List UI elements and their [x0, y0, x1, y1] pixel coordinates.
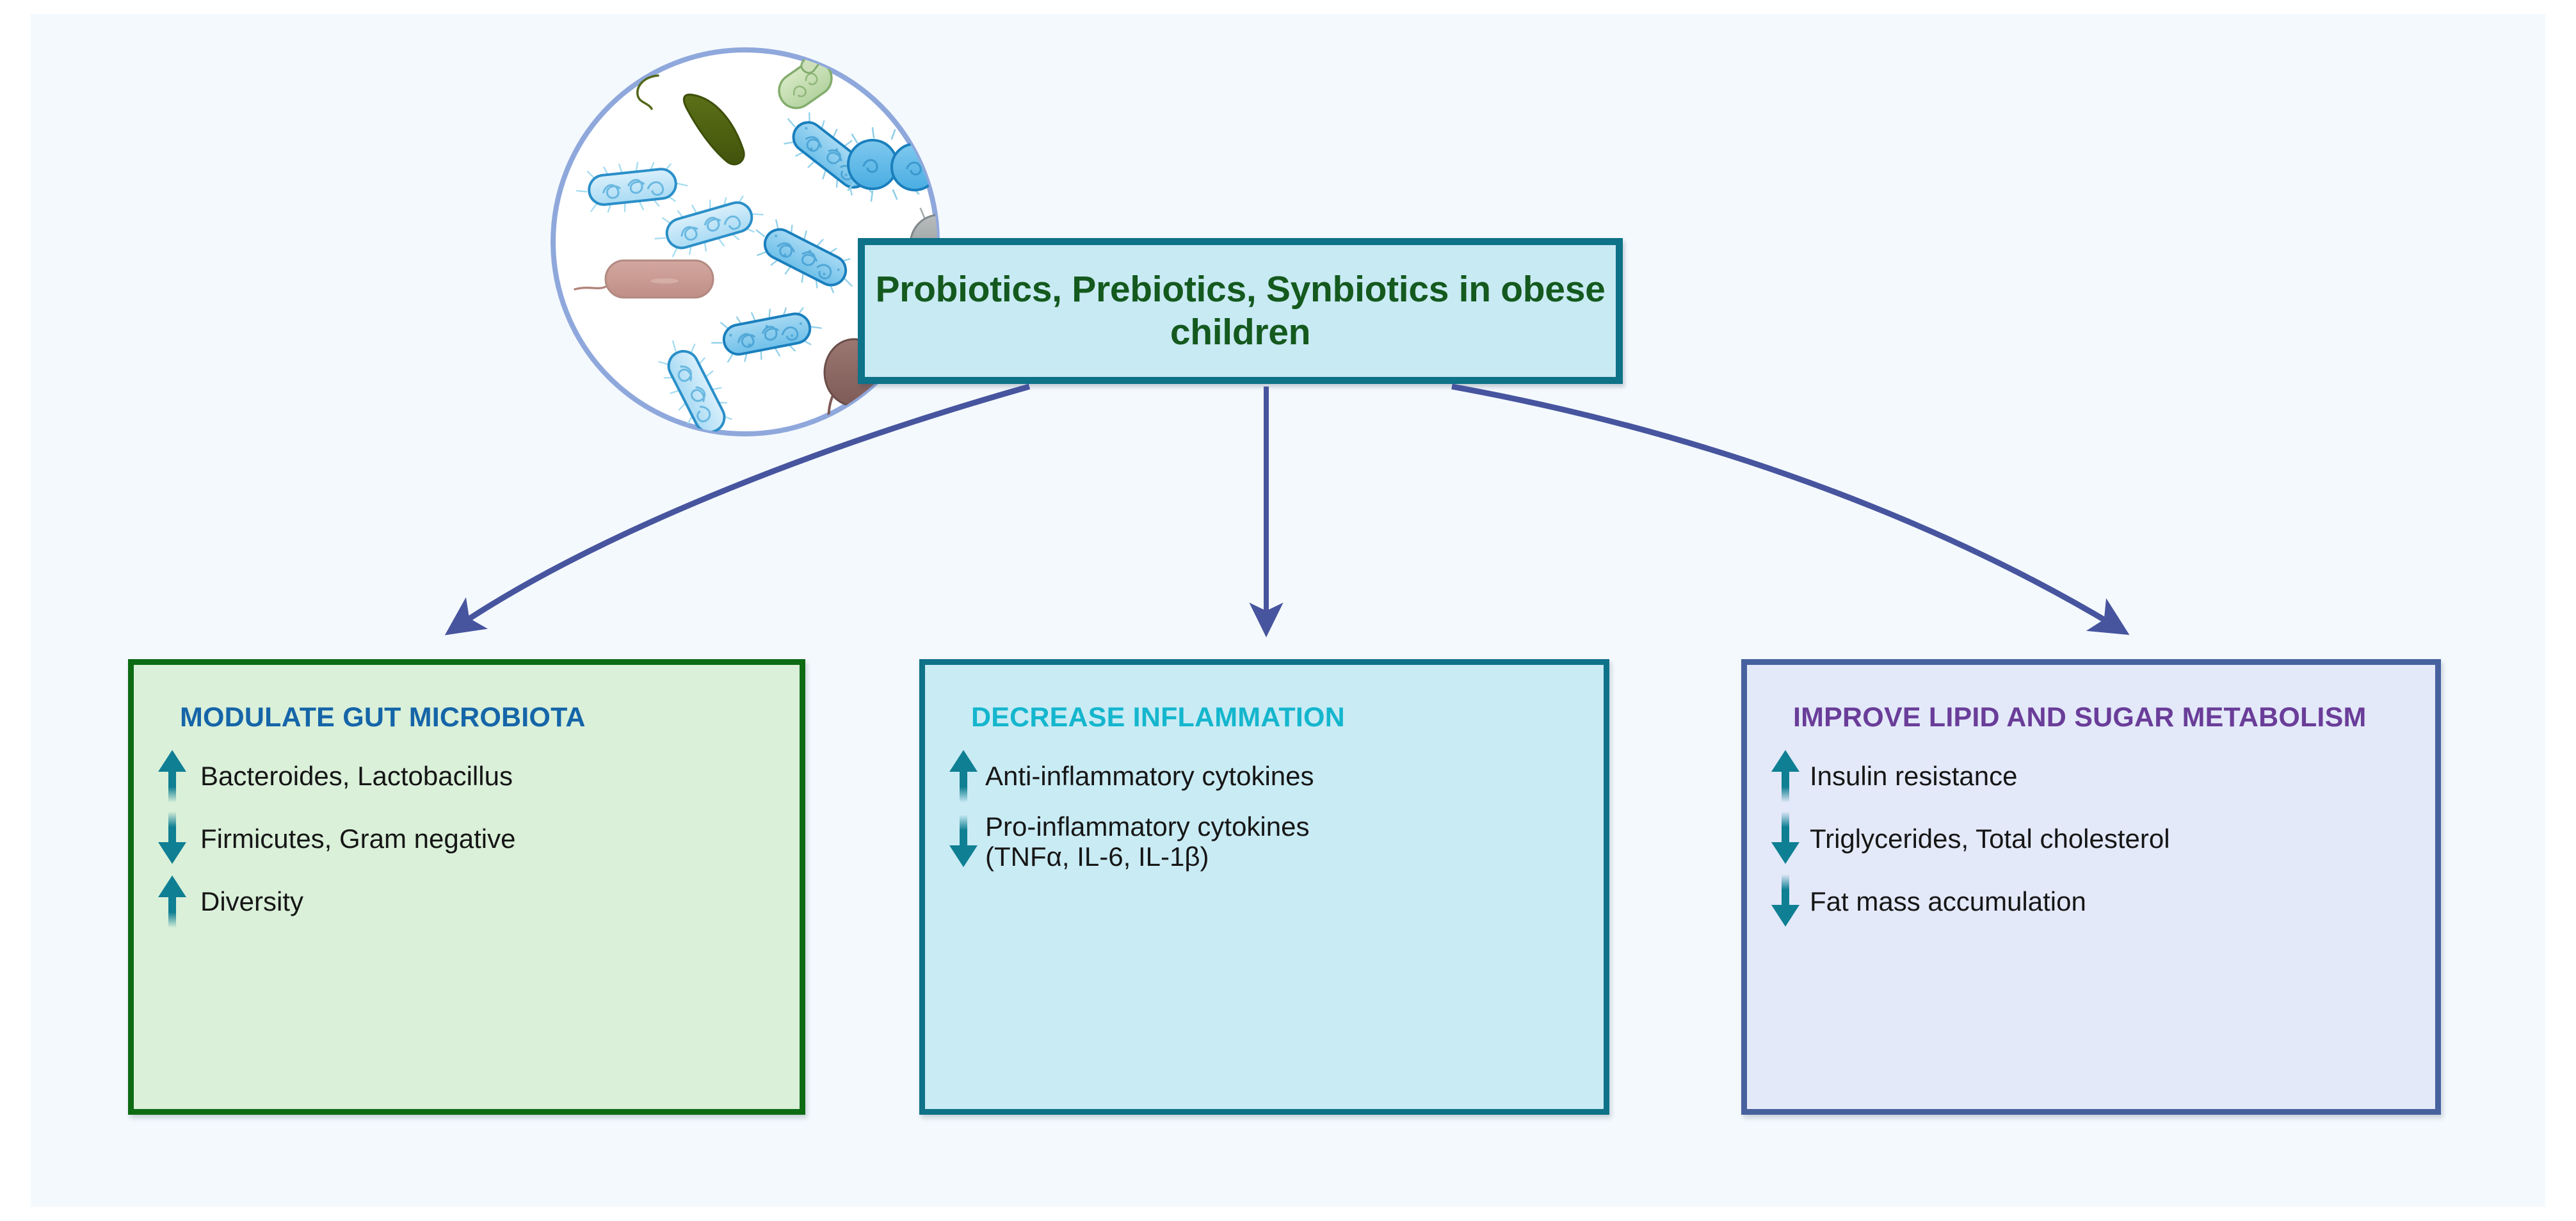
item-text: Anti-inflammatory cytokines: [985, 761, 1314, 791]
arrow-up-icon: [1769, 749, 1802, 802]
arrow-down-icon: [1769, 874, 1802, 928]
arrow-up-icon: [156, 874, 189, 928]
list-item: Bacteroides, Lactobacillus: [156, 749, 778, 802]
outcome-box-improve-lipid-and-sugar-metabolism: IMPROVE LIPID AND SUGAR METABOLISM Insul…: [1741, 659, 2441, 1115]
title-text: Probiotics, Prebiotics, Synbiotics in ob…: [865, 268, 1616, 353]
item-text: Diversity: [194, 886, 303, 916]
list-item: Triglycerides, Total cholesterol: [1769, 811, 2413, 865]
item-list: Anti-inflammatory cytokines Pro-inflamma…: [947, 749, 1582, 872]
arrow-down-icon: [156, 811, 189, 865]
item-text: Firmicutes, Gram negative: [194, 824, 515, 854]
outcome-box-decrease-inflammation: DECREASE INFLAMMATION Anti-inflammatory …: [919, 659, 1609, 1115]
arrow-down-icon: [1769, 811, 1802, 865]
item-list: Insulin resistance Triglycerides, Total …: [1769, 749, 2413, 928]
list-item: Insulin resistance: [1769, 749, 2413, 802]
list-item: Anti-inflammatory cytokines: [947, 749, 1582, 802]
list-item: Fat mass accumulation: [1769, 874, 2413, 928]
list-item: Firmicutes, Gram negative: [156, 811, 778, 865]
box-heading: IMPROVE LIPID AND SUGAR METABOLISM: [1793, 702, 2413, 733]
list-item: Pro-inflammatory cytokines (TNFα, IL-6, …: [947, 811, 1582, 872]
outcome-box-modulate-gut-microbiota: MODULATE GUT MICROBIOTA Bacteroides, Lac…: [128, 659, 805, 1115]
item-text: Pro-inflammatory cytokines (TNFα, IL-6, …: [985, 811, 1309, 872]
box-heading: MODULATE GUT MICROBIOTA: [180, 702, 778, 733]
box-heading: DECREASE INFLAMMATION: [971, 702, 1582, 733]
item-text: Insulin resistance: [1807, 761, 2018, 791]
arrow-to-metabolism: [1452, 387, 2124, 632]
item-list: Bacteroides, Lactobacillus Firmicutes, G…: [156, 749, 778, 928]
item-text: Triglycerides, Total cholesterol: [1807, 824, 2170, 854]
arrow-up-icon: [156, 749, 189, 802]
arrow-up-icon: [947, 749, 980, 802]
diagram-canvas: Probiotics, Prebiotics, Synbiotics in ob…: [31, 14, 2545, 1207]
arrow-down-icon: [947, 815, 980, 868]
list-item: Diversity: [156, 874, 778, 928]
item-text: Bacteroides, Lactobacillus: [194, 761, 513, 791]
title-box: Probiotics, Prebiotics, Synbiotics in ob…: [858, 238, 1623, 384]
item-text: Fat mass accumulation: [1807, 886, 2086, 916]
